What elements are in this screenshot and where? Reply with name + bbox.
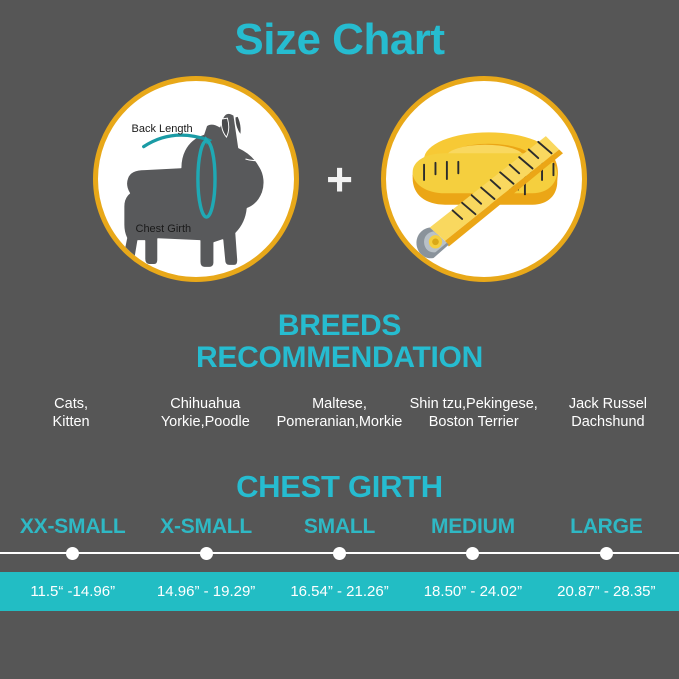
track-dot-cell bbox=[139, 543, 272, 563]
breed-line-1: Shin tzu,Pekingese, bbox=[407, 395, 541, 413]
track-dot-cell bbox=[6, 543, 139, 563]
tape-measure-circle: 16 bbox=[381, 76, 587, 282]
breed-line-1: Maltese, bbox=[272, 395, 406, 413]
size-track bbox=[0, 543, 679, 563]
breed-column: Chihuahua Yorkie,Poodle bbox=[138, 395, 272, 431]
track-dot-xx-small bbox=[66, 547, 79, 560]
size-label-medium: MEDIUM bbox=[406, 515, 539, 539]
breed-line-2: Boston Terrier bbox=[407, 413, 541, 431]
breeds-heading: BREEDS RECOMMENDATION bbox=[0, 310, 679, 375]
size-label-xx-small: XX-SMALL bbox=[6, 515, 139, 539]
track-dot-cell bbox=[273, 543, 406, 563]
measurement-large: 20.87” - 28.35” bbox=[540, 583, 673, 600]
dog-measurement-circle: Back Length Chest Girth bbox=[93, 76, 299, 282]
breed-line-2: Pomeranian,Morkie bbox=[272, 413, 406, 431]
size-chart-page: { "title": "Size Chart", "colors": { "ba… bbox=[0, 0, 679, 679]
track-dot-cell bbox=[540, 543, 673, 563]
breeds-heading-line1: BREEDS bbox=[0, 310, 679, 342]
illustration-row: Back Length Chest Girth + bbox=[0, 76, 679, 282]
tape-measure-illustration: 16 bbox=[386, 81, 582, 277]
track-dot-medium bbox=[466, 547, 479, 560]
breed-line-2: Kitten bbox=[4, 413, 138, 431]
breed-line-2: Yorkie,Poodle bbox=[138, 413, 272, 431]
measurements-band: 11.5“ -14.96” 14.96” - 19.29” 16.54” - 2… bbox=[0, 572, 679, 611]
size-label-x-small: X-SMALL bbox=[139, 515, 272, 539]
chest-girth-label: Chest Girth bbox=[136, 223, 192, 235]
measurement-medium: 18.50” - 24.02” bbox=[406, 583, 539, 600]
breeds-heading-line2: RECOMMENDATION bbox=[0, 342, 679, 374]
back-length-label: Back Length bbox=[132, 123, 193, 135]
dog-measurement-illustration bbox=[98, 81, 294, 277]
breed-line-2: Dachshund bbox=[541, 413, 675, 431]
chest-girth-heading: CHEST GIRTH bbox=[0, 469, 679, 505]
page-title: Size Chart bbox=[0, 0, 679, 62]
measurement-small: 16.54” - 21.26” bbox=[273, 583, 406, 600]
breed-line-1: Chihuahua bbox=[138, 395, 272, 413]
measurement-x-small: 14.96” - 19.29” bbox=[139, 583, 272, 600]
breeds-row: Cats, Kitten Chihuahua Yorkie,Poodle Mal… bbox=[0, 395, 679, 431]
track-dot-cell bbox=[406, 543, 539, 563]
breed-column: Cats, Kitten bbox=[4, 395, 138, 431]
measurement-xx-small: 11.5“ -14.96” bbox=[6, 583, 139, 600]
breed-line-1: Jack Russel bbox=[541, 395, 675, 413]
size-label-large: LARGE bbox=[540, 515, 673, 539]
breed-column: Shin tzu,Pekingese, Boston Terrier bbox=[407, 395, 541, 431]
track-dot-x-small bbox=[200, 547, 213, 560]
size-label-small: SMALL bbox=[273, 515, 406, 539]
track-dot-large bbox=[600, 547, 613, 560]
plus-icon: + bbox=[323, 156, 357, 202]
breed-column: Maltese, Pomeranian,Morkie bbox=[272, 395, 406, 431]
track-dot-small bbox=[333, 547, 346, 560]
breed-column: Jack Russel Dachshund bbox=[541, 395, 675, 431]
size-labels-row: XX-SMALL X-SMALL SMALL MEDIUM LARGE bbox=[0, 515, 679, 539]
track-dots bbox=[6, 543, 673, 563]
breed-line-1: Cats, bbox=[4, 395, 138, 413]
